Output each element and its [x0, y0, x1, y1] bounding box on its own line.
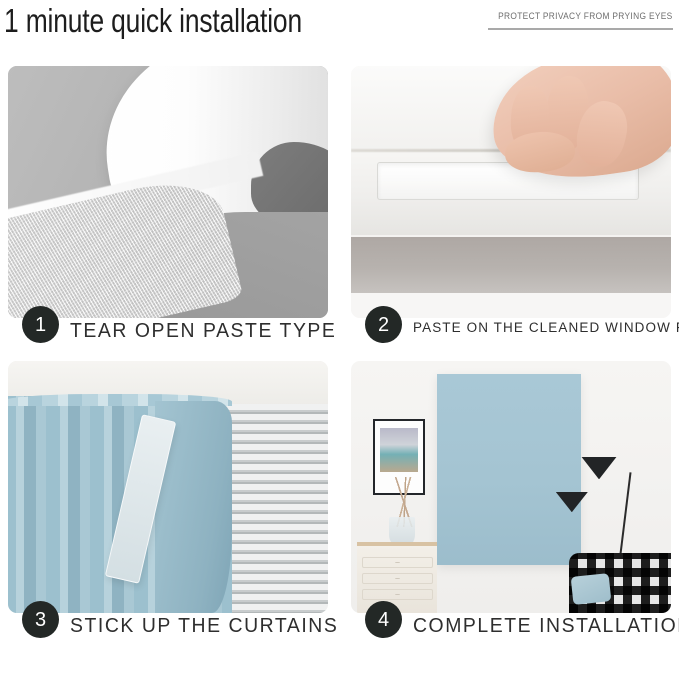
- step-2-caption: PASTE ON THE CLEANED WINDOW FRAME: [413, 320, 679, 335]
- tagline-text: PROTECT PRIVACY FROM PRYING EYES: [499, 11, 673, 21]
- drawer-knob: [395, 562, 400, 563]
- step-card-2: 2 PASTE ON THE CLEANED WINDOW FRAME: [351, 66, 671, 364]
- step-4-caption: COMPLETE INSTALLATION: [413, 615, 679, 638]
- page-header: 1 minute quick installation PROTECT PRIV…: [0, 0, 679, 62]
- step-4-caption-row: 4 COMPLETE INSTALLATION: [351, 613, 671, 659]
- installed-blackout-curtain: [437, 374, 581, 566]
- step-4-photo: [351, 361, 671, 613]
- step-3-photo: [8, 361, 328, 613]
- step-badge-4: 4: [365, 601, 402, 638]
- step-badge-3: 3: [22, 601, 59, 638]
- step-2-caption-row: 2 PASTE ON THE CLEANED WINDOW FRAME: [351, 318, 671, 364]
- step-badge-1: 1: [22, 306, 59, 343]
- tagline-block: PROTECT PRIVACY FROM PRYING EYES: [485, 11, 673, 30]
- artwork-image: [380, 428, 418, 472]
- drawer-knob: [395, 578, 400, 579]
- drawer-3: [362, 589, 432, 600]
- drawer-1: [362, 557, 432, 568]
- step-1-caption: TEAR OPEN PASTE TYPE: [70, 320, 336, 343]
- step-card-1: 1 TEAR OPEN PASTE TYPE: [8, 66, 328, 364]
- floor-lamp-pole: [619, 472, 632, 562]
- step-card-3: 3 STICK UP THE CURTAINS: [8, 361, 328, 659]
- lamp-shade-upper: [581, 457, 616, 480]
- steps-grid: 1 TEAR OPEN PASTE TYPE 2 PASTE ON THE CL…: [0, 62, 679, 662]
- step-3-caption: STICK UP THE CURTAINS: [70, 615, 338, 638]
- page-title: 1 minute quick installation: [4, 2, 302, 40]
- step-1-caption-row: 1 TEAR OPEN PASTE TYPE: [8, 318, 328, 364]
- step-1-photo: [8, 66, 328, 318]
- step-card-4: 4 COMPLETE INSTALLATION: [351, 361, 671, 659]
- drawer-knob: [395, 594, 400, 595]
- window-sill: [351, 237, 671, 292]
- tagline-divider: [488, 28, 673, 30]
- drawer-2: [362, 573, 432, 584]
- step-2-photo: [351, 66, 671, 318]
- white-dresser: [357, 542, 437, 613]
- blue-pillow: [570, 573, 611, 605]
- step-badge-2: 2: [365, 306, 402, 343]
- step-3-caption-row: 3 STICK UP THE CURTAINS: [8, 613, 328, 659]
